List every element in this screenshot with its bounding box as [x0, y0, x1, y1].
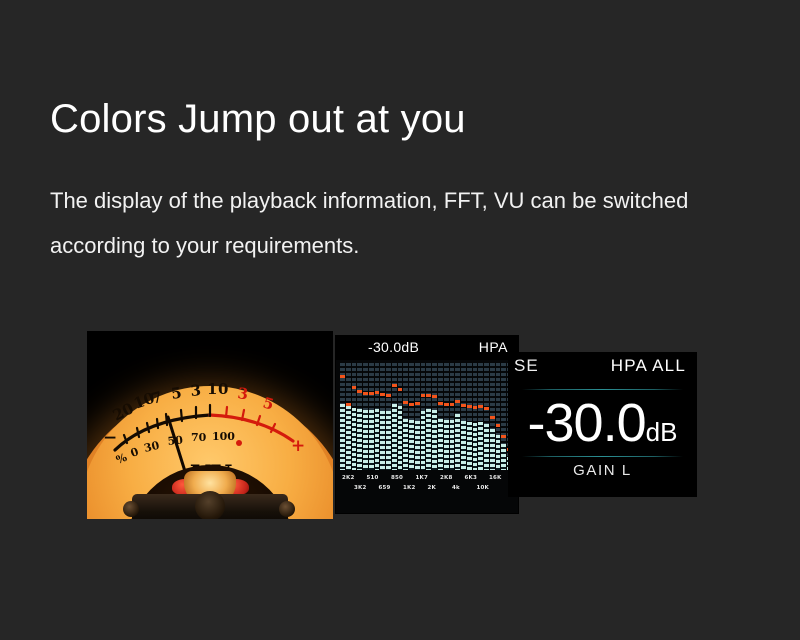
fft-bar-peak: [501, 435, 506, 438]
fft-bar-fill: [415, 421, 420, 470]
fft-bar-fill: [450, 420, 455, 470]
fft-bar-fill: [484, 424, 489, 470]
fft-bar-peak: [398, 388, 403, 391]
fft-bar-fill: [478, 422, 483, 470]
fft-bar: [444, 363, 449, 470]
fft-bar-peak: [484, 407, 489, 410]
fft-bar: [357, 363, 362, 470]
fft-bar-fill: [455, 414, 460, 470]
fft-bar-fill: [346, 406, 351, 470]
fft-axis-label: 2K: [428, 485, 437, 491]
fft-bar: [369, 363, 374, 470]
gain-value-unit: dB: [646, 417, 678, 447]
svg-text:100: 100: [212, 430, 235, 443]
fft-bar-peak: [432, 395, 437, 398]
fft-bar-fill: [386, 411, 391, 470]
fft-bar-peak: [392, 384, 397, 387]
fft-bar-fill: [375, 409, 380, 470]
fft-axis-label: 659: [379, 485, 391, 491]
fft-bar-peak: [473, 406, 478, 409]
fft-bar-peak: [403, 401, 408, 404]
svg-text:3: 3: [190, 381, 202, 400]
fft-bar-peak: [375, 391, 380, 394]
fft-bar-peak: [467, 405, 472, 408]
fft-axis-label: 510: [367, 475, 379, 481]
fft-bar-peak: [340, 375, 345, 378]
fft-bar-fill: [357, 409, 362, 470]
fft-bar-peak: [421, 394, 426, 397]
fft-bar-fill: [496, 435, 501, 470]
divider-top: [522, 389, 683, 390]
svg-text:%: %: [114, 451, 129, 467]
fft-axis-label: 1K7: [416, 475, 429, 481]
fft-bar-peak: [490, 416, 495, 419]
fft-bar: [501, 363, 506, 470]
fft-bar: [496, 363, 501, 470]
gain-value-readout: -30.0dB: [508, 394, 697, 461]
fft-bar-peak: [369, 392, 374, 395]
svg-text:+: +: [291, 436, 305, 456]
fft-bar-fill: [380, 411, 385, 470]
fft-bar: [340, 363, 345, 470]
fft-bar-fill: [490, 429, 495, 470]
fft-bar: [490, 363, 495, 470]
fft-bar-peak: [363, 392, 368, 395]
fft-bar-fill: [432, 410, 437, 470]
fft-axis-label: 3K2: [354, 485, 367, 491]
fft-bar: [375, 363, 380, 470]
gain-source-label: SE: [514, 356, 539, 376]
divider-bottom: [522, 456, 683, 457]
fft-bar: [467, 363, 472, 470]
fft-bar: [363, 363, 368, 470]
fft-bar-fill: [398, 406, 403, 470]
svg-text:50: 50: [167, 433, 184, 448]
page-title: Colors Jump out at you: [50, 97, 466, 142]
fft-bar-peak: [438, 402, 443, 405]
fft-bar-fill: [352, 408, 357, 470]
fft-bar-peak: [455, 400, 460, 403]
fft-frequency-axis: 2K25108501K72K86K316K 3K26591K22K4k10K: [338, 475, 516, 497]
fft-bar-fill: [438, 419, 443, 470]
fft-bar-peak: [346, 403, 351, 406]
vu-pivot-shaft: [195, 491, 225, 519]
gain-value-number: -30.0: [528, 393, 646, 453]
fft-axis-row-top: 2K25108501K72K86K316K: [338, 475, 516, 485]
svg-text:5: 5: [261, 394, 276, 414]
fft-bar-peak: [409, 403, 414, 406]
fft-bar-fill: [409, 420, 414, 470]
fft-bar-fill: [369, 410, 374, 470]
fft-bar: [403, 363, 408, 470]
gain-mode-label: HPA ALL: [611, 356, 686, 376]
svg-text:−: −: [103, 428, 117, 448]
fft-bar-peak: [415, 402, 420, 405]
fft-bar: [346, 363, 351, 470]
vu-screw-right: [279, 501, 295, 517]
fft-bar: [421, 363, 426, 470]
fft-bar-fill: [392, 404, 397, 470]
svg-text:1: 1: [207, 380, 217, 398]
fft-bar: [426, 363, 431, 470]
fft-bar: [386, 363, 391, 470]
slide-canvas: Colors Jump out at you The display of th…: [0, 0, 800, 640]
fft-bar-peak: [386, 394, 391, 397]
fft-axis-label: 1K2: [403, 485, 416, 491]
page-subtitle: The display of the playback information,…: [50, 178, 722, 268]
fft-mode-label: HPA: [479, 339, 508, 355]
fft-bar-fill: [363, 410, 368, 470]
svg-text:20: 20: [110, 399, 137, 424]
fft-axis-label: 10K: [477, 485, 490, 491]
fft-bar: [415, 363, 420, 470]
svg-text:30: 30: [143, 439, 161, 455]
fft-header: -30.0dB HPA: [336, 336, 518, 360]
gain-panel[interactable]: SE HPA ALL -30.0dB GAIN L: [508, 352, 697, 497]
fft-bar: [461, 363, 466, 470]
fft-bar: [432, 363, 437, 470]
vu-screw-left: [123, 501, 139, 517]
fft-bar: [478, 363, 483, 470]
fft-bar-peak: [461, 404, 466, 407]
fft-axis-label: 850: [391, 475, 403, 481]
fft-bar-fill: [403, 419, 408, 470]
fft-axis-label: 6K3: [465, 475, 478, 481]
fft-panel[interactable]: -30.0dB HPA 2K25108501K72K86K316K 3K2659…: [336, 336, 518, 513]
fft-bar-peak: [444, 403, 449, 406]
svg-text:3: 3: [236, 384, 249, 403]
fft-bar: [450, 363, 455, 470]
svg-text:0: 0: [129, 445, 141, 460]
fft-axis-label: 4k: [452, 485, 460, 491]
fft-bar-fill: [461, 421, 466, 470]
fft-bar-peak: [352, 386, 357, 389]
fft-bar: [380, 363, 385, 470]
vu-meter-panel: 20 10 7 5 3 1 0 3 5 − + % 0 30 50: [87, 331, 333, 519]
fft-axis-label: 2K2: [342, 475, 355, 481]
fft-bar-peak: [450, 403, 455, 406]
fft-bar-peak: [426, 394, 431, 397]
fft-bar-peak: [357, 390, 362, 393]
fft-axis-row-bottom: 3K26591K22K4k10K: [338, 485, 516, 495]
fft-bar-fill: [501, 444, 506, 470]
svg-text:70: 70: [191, 431, 207, 444]
fft-bar-fill: [421, 411, 426, 470]
fft-bar: [352, 363, 357, 470]
fft-level-readout: -30.0dB: [368, 339, 419, 355]
svg-text:5: 5: [170, 384, 183, 403]
gain-channel-label: GAIN L: [508, 462, 697, 479]
fft-bar: [398, 363, 403, 470]
fft-bar-fill: [444, 420, 449, 470]
fft-bar: [392, 363, 397, 470]
svg-text:0: 0: [218, 380, 228, 398]
fft-axis-label: 16K: [489, 475, 502, 481]
fft-axis-label: 2K8: [440, 475, 453, 481]
fft-bar: [484, 363, 489, 470]
fft-spectrum-graph: [340, 363, 512, 470]
fft-bar: [438, 363, 443, 470]
fft-bar-peak: [380, 393, 385, 396]
fft-bar: [409, 363, 414, 470]
fft-bar-peak: [478, 405, 483, 408]
fft-bar-fill: [426, 409, 431, 470]
fft-bar-peak: [496, 424, 501, 427]
fft-bar-fill: [473, 423, 478, 470]
fft-bar: [473, 363, 478, 470]
fft-bar: [455, 363, 460, 470]
fft-bar-fill: [467, 422, 472, 470]
fft-bar-fill: [340, 404, 345, 470]
